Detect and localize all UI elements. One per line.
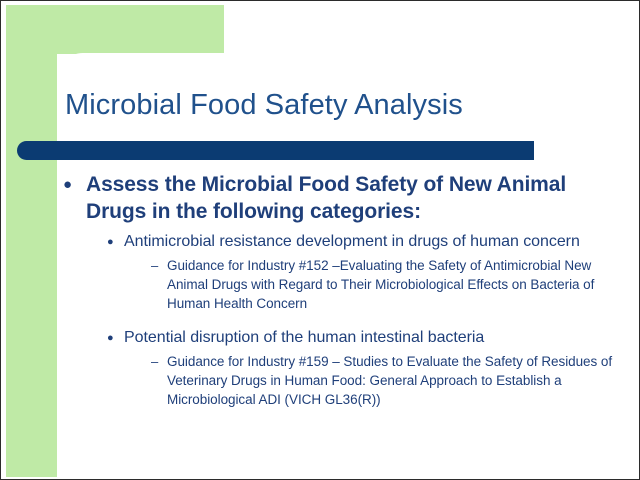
list-item: ● Assess the Microbial Food Safety of Ne… bbox=[63, 171, 625, 225]
list-item: – Guidance for Industry #159 – Studies t… bbox=[151, 352, 625, 409]
bullet-dot-icon: ● bbox=[107, 231, 124, 253]
list-item-label: Assess the Microbial Food Safety of New … bbox=[86, 171, 625, 225]
bullet-dot-icon: ● bbox=[107, 327, 124, 349]
spacer bbox=[63, 315, 625, 327]
bullet-dash-icon: – bbox=[151, 352, 167, 371]
list-item: ● Antimicrobial resistance development i… bbox=[107, 231, 625, 253]
list-item-label: Guidance for Industry #159 – Studies to … bbox=[167, 352, 625, 409]
list-item: – Guidance for Industry #152 –Evaluating… bbox=[151, 256, 625, 313]
page-title: Microbial Food Safety Analysis bbox=[65, 87, 605, 123]
bullet-dot-icon: ● bbox=[63, 171, 86, 198]
slide-body: ● Assess the Microbial Food Safety of Ne… bbox=[63, 171, 625, 411]
list-item-label: Potential disruption of the human intest… bbox=[124, 327, 625, 349]
decorative-green-sidebar bbox=[6, 5, 57, 477]
bullet-dash-icon: – bbox=[151, 256, 167, 275]
list-item-label: Antimicrobial resistance development in … bbox=[124, 231, 625, 253]
title-underline-bar bbox=[17, 141, 534, 160]
list-item-label: Guidance for Industry #152 –Evaluating t… bbox=[167, 256, 625, 313]
presentation-slide: Microbial Food Safety Analysis ● Assess … bbox=[0, 0, 640, 480]
list-item: ● Potential disruption of the human inte… bbox=[107, 327, 625, 349]
